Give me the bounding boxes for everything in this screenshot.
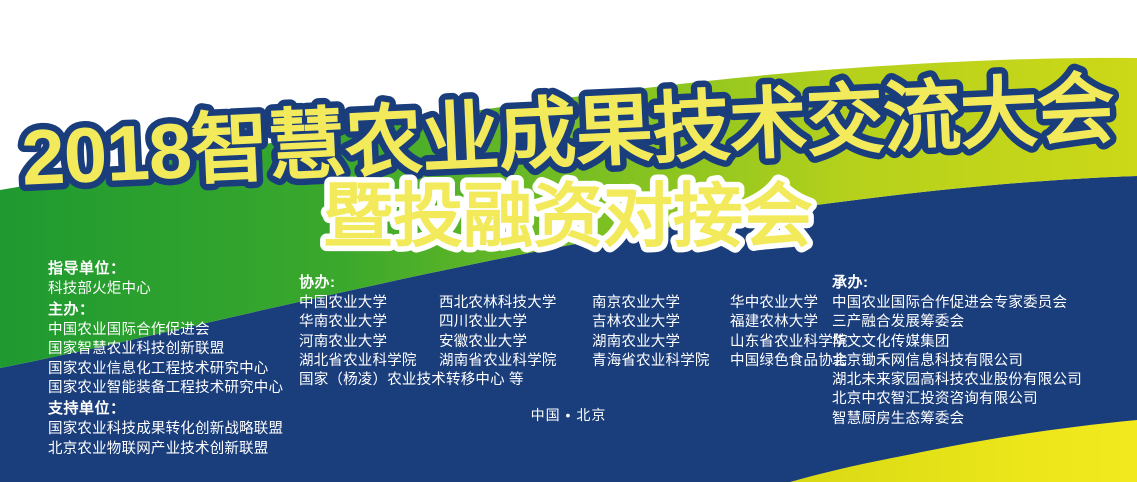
- support-unit-item: 北京农业物联网产业技术创新联盟: [48, 440, 283, 459]
- co-organizer-column: 协办: 中国农业大学 西北农林科技大学 南京农业大学 华中农业大学 华南农业大学…: [299, 272, 848, 390]
- organizer-item: 北京锄禾网信息科技有限公司: [832, 352, 1082, 371]
- co-organizer-item: 华中农业大学: [730, 294, 848, 313]
- host-item: 中国农业国际合作促进会: [48, 321, 283, 340]
- co-organizer-item: 湖南农业大学: [592, 333, 730, 352]
- organizer-item: 湖北未来家园高科技农业股份有限公司: [832, 371, 1082, 390]
- host-item: 国家农业智能装备工程技术研究中心: [48, 379, 283, 398]
- organizer-item: 三产融合发展筹委会: [832, 313, 1082, 332]
- co-organizer-item: 四川农业大学: [439, 313, 592, 332]
- co-organizer-item: 安徽农业大学: [439, 333, 592, 352]
- organizer-item: 华文文化传媒集团: [832, 333, 1082, 352]
- event-location: 中国 • 北京: [0, 405, 1137, 425]
- co-organizer-item: 中国农业大学: [299, 294, 439, 313]
- co-organizer-item: 山东省农业科学院: [730, 333, 848, 352]
- organizer-item: 中国农业国际合作促进会专家委员会: [832, 294, 1082, 313]
- host-header: 主办：: [48, 300, 283, 320]
- host-item: 国家智慧农业科技创新联盟: [48, 340, 283, 359]
- co-organizer-header: 协办:: [299, 273, 848, 293]
- co-organizer-item: 湖南省农业科学院: [439, 352, 592, 371]
- organizer-header: 承办:: [832, 273, 1082, 293]
- co-organizer-item: 南京农业大学: [592, 294, 730, 313]
- co-organizer-item-last: 国家（杨凌）农业技术转移中心 等: [299, 371, 848, 390]
- guidance-unit-item: 科技部火炬中心: [48, 280, 283, 299]
- co-organizer-item: 中国绿色食品协会: [730, 352, 848, 371]
- guidance-unit-header: 指导单位：: [48, 259, 283, 279]
- left-info-column: 指导单位： 科技部火炬中心 主办： 中国农业国际合作促进会 国家智慧农业科技创新…: [48, 258, 283, 459]
- co-organizer-grid: 中国农业大学 西北农林科技大学 南京农业大学 华中农业大学 华南农业大学 四川农…: [299, 294, 848, 390]
- co-organizer-item: 青海省农业科学院: [592, 352, 730, 371]
- co-organizer-item: 西北农林科技大学: [439, 294, 592, 313]
- host-item: 国家农业信息化工程技术研究中心: [48, 360, 283, 379]
- co-organizer-item: 湖北省农业科学院: [299, 352, 439, 371]
- conference-banner: 2018智慧农业成果技术交流大会 2018智慧农业成果技术交流大会 暨投融资对接…: [0, 0, 1137, 482]
- co-organizer-item: 河南农业大学: [299, 333, 439, 352]
- co-organizer-item: 福建农林大学: [730, 313, 848, 332]
- co-organizer-item: 吉林农业大学: [592, 313, 730, 332]
- co-organizer-item: 华南农业大学: [299, 313, 439, 332]
